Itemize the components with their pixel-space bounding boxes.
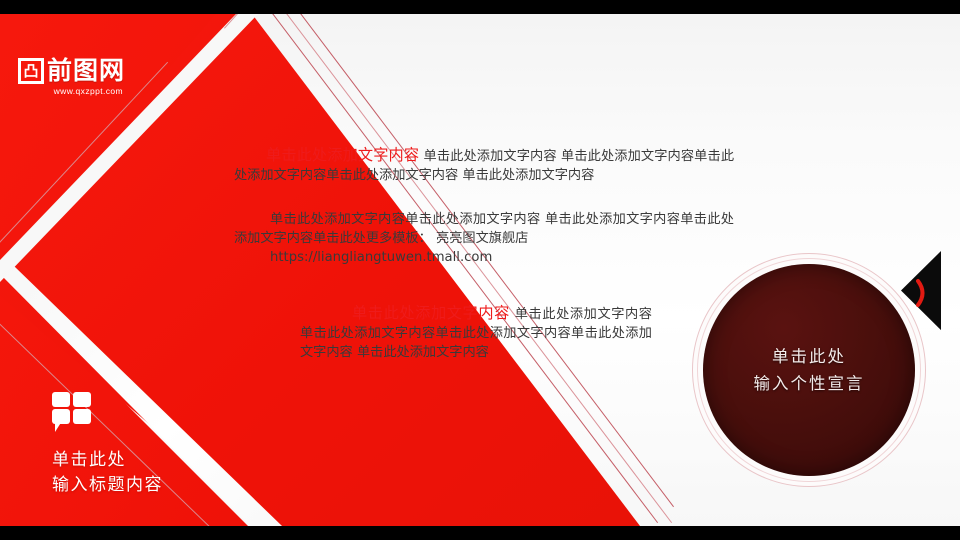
- circle-line-1: 单击此处: [754, 343, 865, 370]
- title-text: 单击此处 输入标题内容: [52, 448, 163, 498]
- logo-url: www.qxzppt.com: [18, 86, 125, 96]
- paragraph-3-lead: 单击此处添加文字内容: [352, 304, 510, 322]
- chevron-right-icon: [916, 278, 929, 308]
- paragraph-2-url[interactable]: https://liangliangtuwen.tmall.com: [234, 248, 734, 267]
- bubble-quadrant-1: [52, 392, 70, 407]
- body-paragraph-1: 单击此处添加文字内容 单击此处添加文字内容 单击此处添加文字内容单击此处添加文字…: [234, 146, 734, 185]
- arrow-triangle: [901, 251, 959, 337]
- bubble-quadrant-4: [73, 409, 91, 424]
- circle-text: 单击此处 输入个性宣言: [754, 343, 865, 397]
- title-line-1: 单击此处: [52, 448, 163, 473]
- circle-fill: 单击此处 输入个性宣言: [703, 264, 915, 476]
- presentation-slide: 凸 前图网 www.qxzppt.com 单击此处添加文字内容 单击此处添加文字…: [0, 0, 960, 540]
- logo-wordmark: 前图网: [47, 58, 125, 84]
- body-paragraph-3: 单击此处添加文字内容 单击此处添加文字内容 单击此处添加文字内容单击此处添加文字…: [300, 304, 652, 362]
- letterbox-bar-top: [0, 0, 960, 14]
- paragraph-2-text: 单击此处添加文字内容单击此处添加文字内容 单击此处添加文字内容单击此处添加文字内…: [234, 212, 734, 246]
- logo-row: 凸 前图网: [18, 58, 125, 84]
- title-line-2: 输入标题内容: [52, 473, 163, 498]
- letterbox-bar-bottom: [0, 526, 960, 540]
- body-paragraph-2: 单击此处添加文字内容单击此处添加文字内容 单击此处添加文字内容单击此处添加文字内…: [234, 210, 734, 267]
- arrow-marker[interactable]: [901, 251, 959, 337]
- circle-badge[interactable]: 单击此处 输入个性宣言: [692, 253, 926, 487]
- speech-bubble-grid-icon: [52, 392, 94, 434]
- logo-mark-icon: 凸: [18, 58, 44, 84]
- slide-canvas: 凸 前图网 www.qxzppt.com 单击此处添加文字内容 单击此处添加文字…: [0, 14, 960, 526]
- brand-logo: 凸 前图网 www.qxzppt.com: [18, 58, 125, 96]
- paragraph-1-lead: 单击此处添加文字内容: [266, 146, 419, 164]
- bubble-quadrant-2: [73, 392, 91, 407]
- bubble-tail: [55, 421, 62, 432]
- circle-line-2: 输入个性宣言: [754, 370, 865, 397]
- title-block: 单击此处 输入标题内容: [52, 392, 163, 498]
